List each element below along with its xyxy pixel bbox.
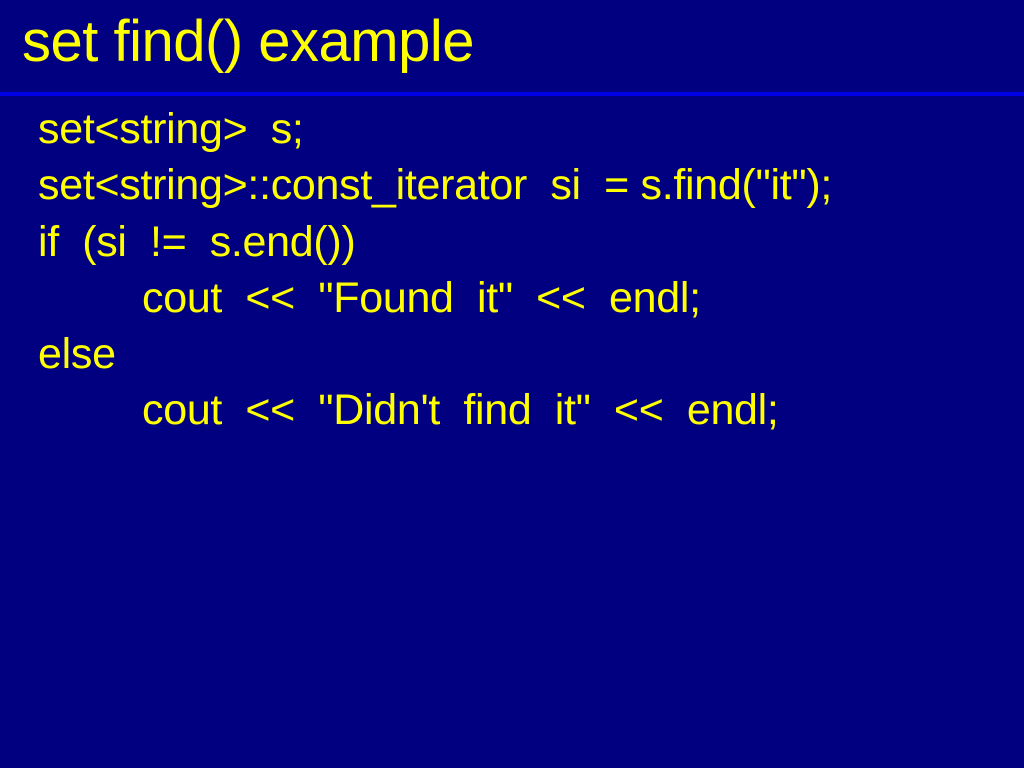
slide-title-area: set find() example xyxy=(0,0,1024,92)
code-line: else xyxy=(38,329,116,379)
code-line: set<string>::const_iterator si = s.find(… xyxy=(38,160,832,210)
page-title: set find() example xyxy=(22,8,474,76)
title-divider xyxy=(0,92,1024,96)
presentation-slide: set find() example set<string> s; set<st… xyxy=(0,0,1024,768)
code-line: if (si != s.end()) xyxy=(38,217,355,267)
code-line: cout << "Found it" << endl; xyxy=(142,273,701,323)
code-line: cout << "Didn't find it" << endl; xyxy=(142,385,779,435)
code-line: set<string> s; xyxy=(38,104,304,154)
